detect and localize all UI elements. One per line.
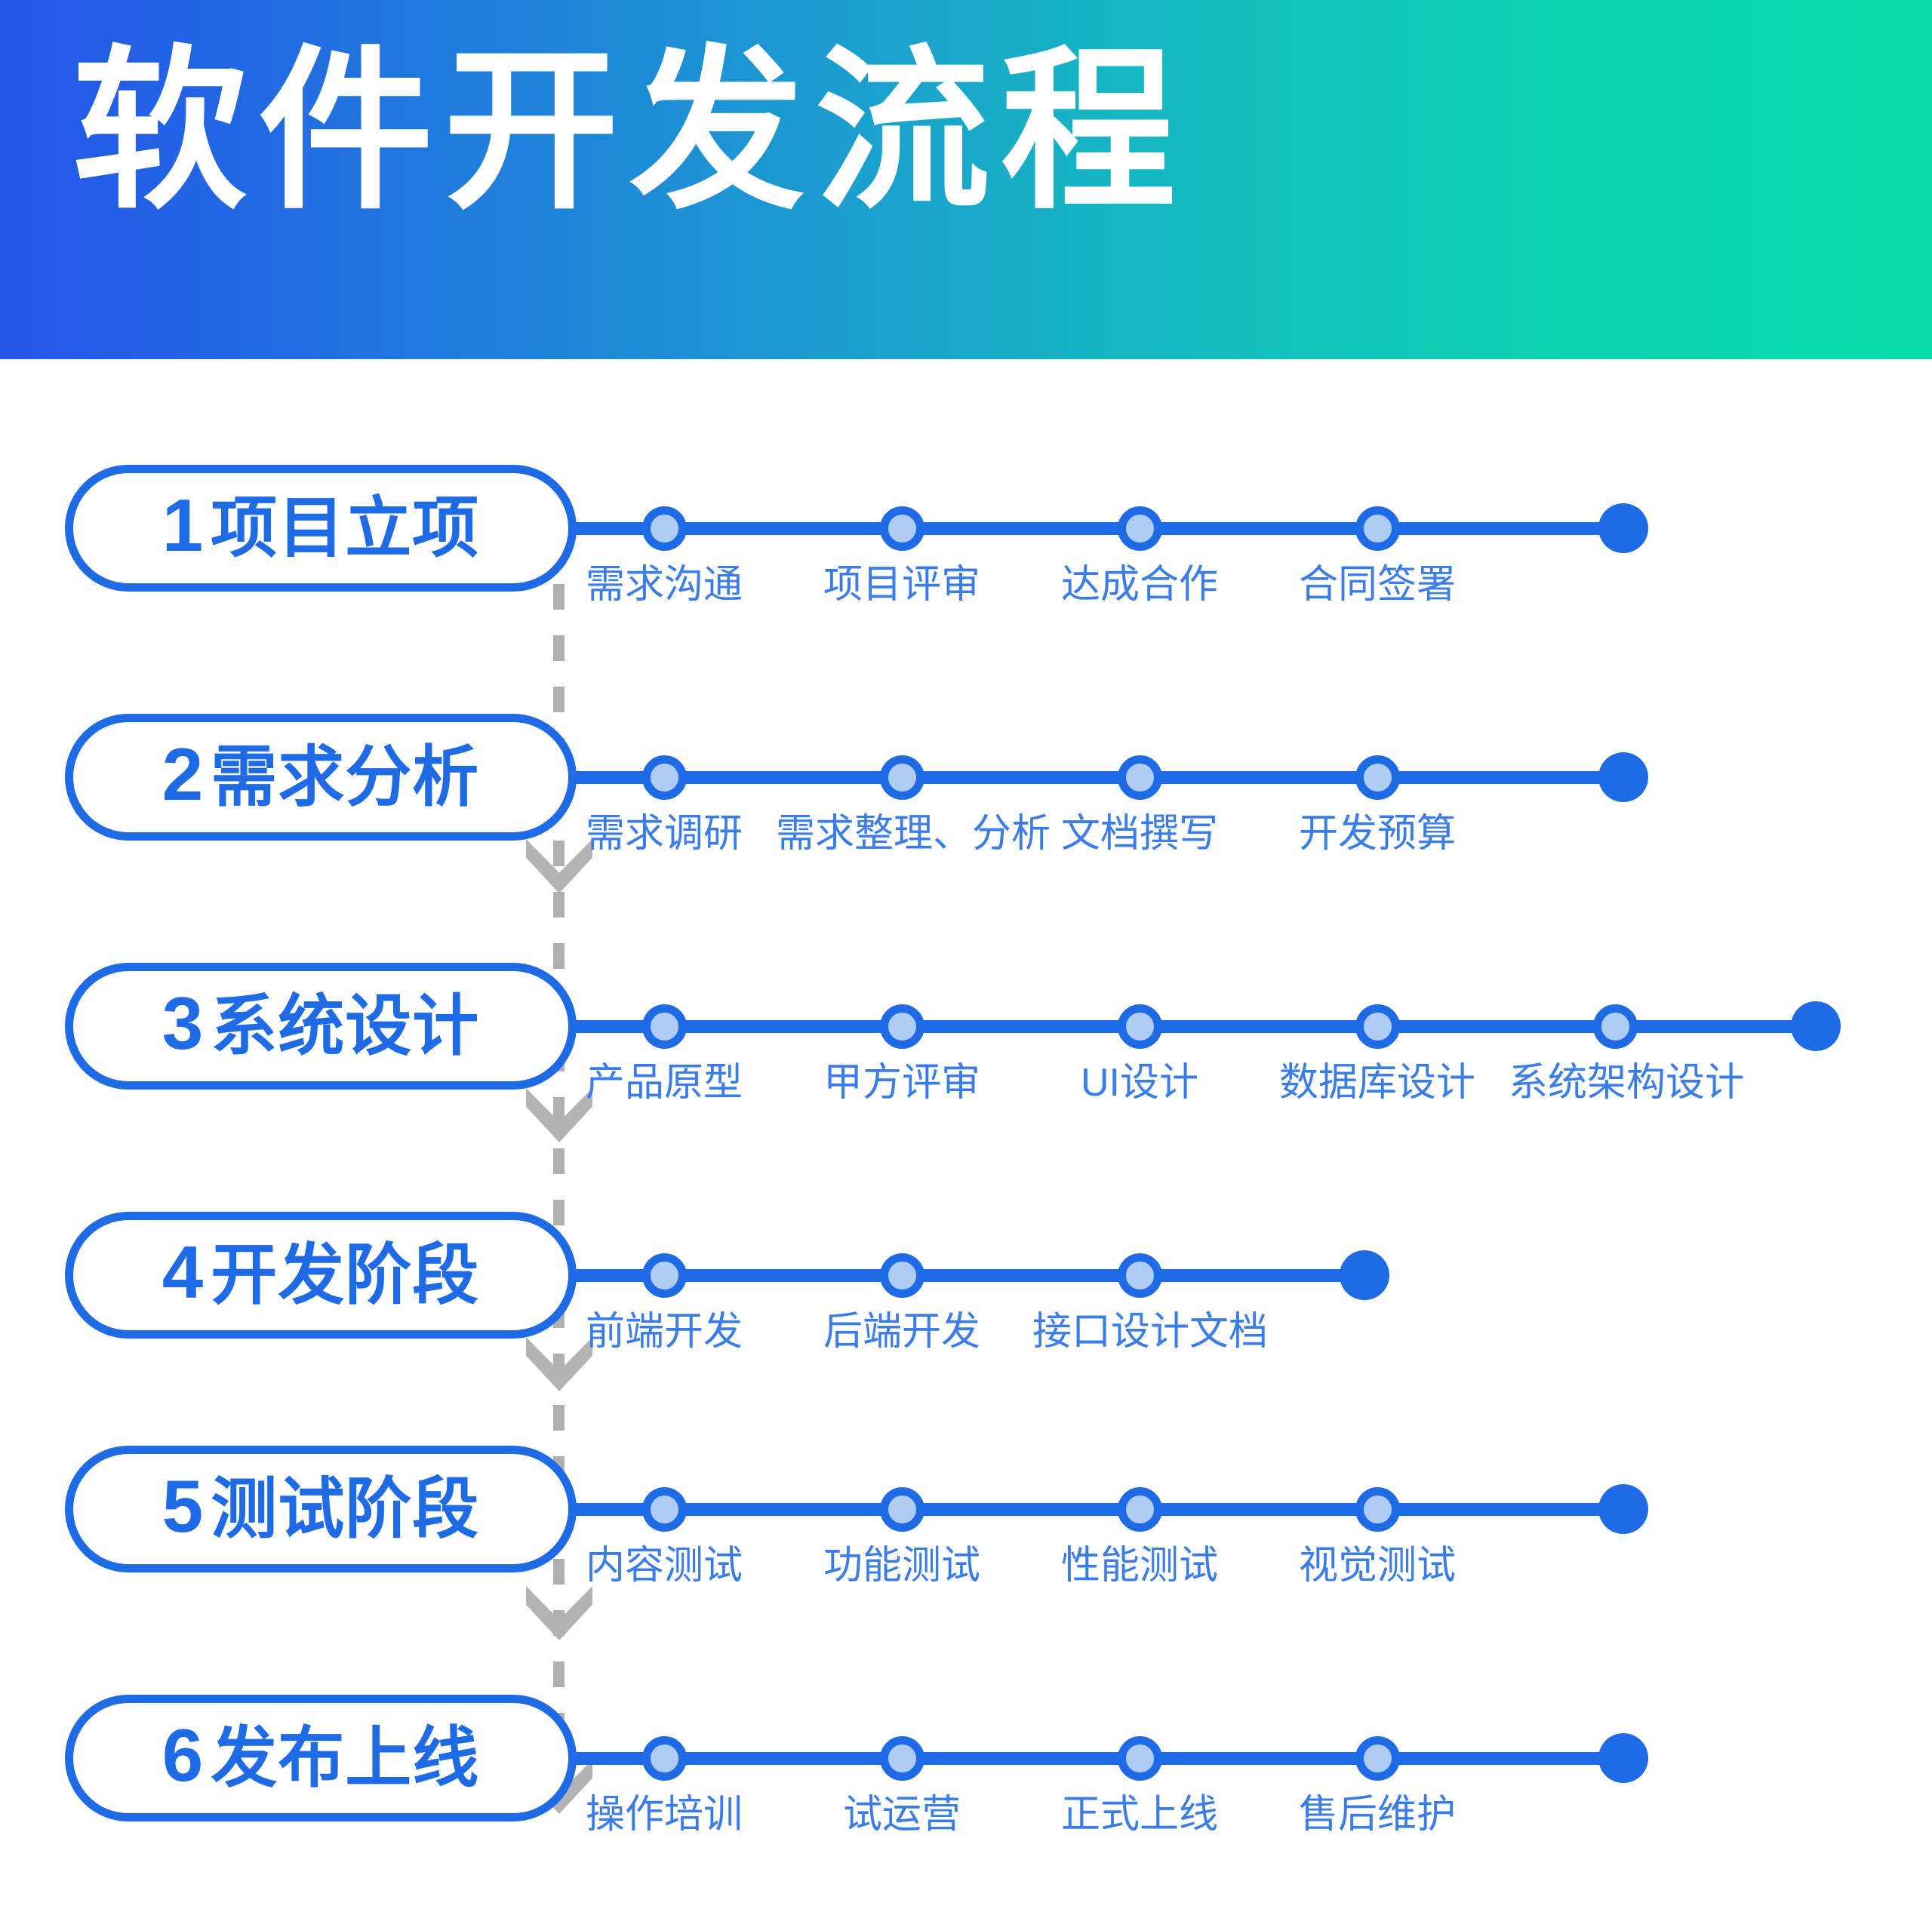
milestone-label: 前端开发 [586, 1310, 743, 1354]
step-number: 6 [162, 1718, 204, 1792]
step-pill-3[interactable]: 3 系统设计 [65, 963, 577, 1090]
milestone-label: 试运营 [843, 1793, 961, 1837]
milestone-label: 功能测试 [823, 1544, 980, 1588]
step-row: 3 系统设计 产品原型 甲方评审 UI设计 数据库设计 系统架构设计 [0, 963, 1932, 1114]
step-row: 5 测试阶段 内容测试 功能测试 性能测试 视觉测试 [0, 1446, 1932, 1597]
step-track [558, 522, 1630, 535]
step-pill-2[interactable]: 2 需求分析 [65, 714, 577, 841]
step-track [558, 1752, 1630, 1765]
milestone-node[interactable] [1118, 1253, 1162, 1298]
track-end-dot [1598, 1733, 1648, 1783]
step-name: 测试阶段 [211, 1476, 479, 1542]
step-name: 发布上线 [211, 1725, 479, 1791]
milestone-node[interactable] [1355, 1004, 1400, 1049]
milestone-node[interactable] [642, 1487, 687, 1532]
milestone-node[interactable] [642, 1736, 687, 1781]
milestone-node[interactable] [1118, 1487, 1162, 1532]
step-name: 系统设计 [211, 993, 479, 1059]
step-row: 4 开发阶段 前端开发 后端开发 接口设计文档 [0, 1212, 1932, 1363]
step-row: 2 需求分析 需求调研 需求整理、分析 文档撰写 开发预算 [0, 714, 1932, 865]
milestone-node[interactable] [642, 755, 687, 800]
milestone-label: 正式上线 [1061, 1793, 1218, 1837]
step-number: 3 [162, 986, 204, 1060]
step-name: 项目立项 [211, 495, 479, 561]
milestone-node[interactable] [642, 506, 687, 551]
milestone-node[interactable] [1118, 506, 1162, 551]
step-number: 2 [162, 737, 204, 811]
step-number: 5 [162, 1469, 204, 1543]
milestone-node[interactable] [1118, 1004, 1162, 1049]
milestone-node[interactable] [1355, 506, 1400, 551]
milestone-label: 甲方评审 [823, 1061, 980, 1105]
milestone-node[interactable] [880, 1736, 924, 1781]
step-number: 1 [162, 488, 204, 562]
track-end-dot [1598, 503, 1648, 553]
page-title: 软件开发流程 [72, 38, 1186, 226]
milestone-label: 产品原型 [586, 1061, 743, 1105]
milestone-label: 项目评审 [823, 563, 980, 607]
milestone-node[interactable] [1118, 755, 1162, 800]
milestone-label: 开发预算 [1299, 812, 1456, 856]
milestone-label: 需求整理、分析 [776, 812, 1051, 856]
milestone-label: 数据库设计 [1279, 1061, 1475, 1105]
track-end-dot [1340, 1250, 1389, 1300]
milestone-label: 接口设计文档 [1032, 1310, 1268, 1354]
step-track [558, 771, 1630, 784]
milestone-label: 内容测试 [586, 1544, 743, 1588]
step-pill-5[interactable]: 5 测试阶段 [65, 1446, 577, 1572]
step-number: 4 [162, 1235, 204, 1309]
milestone-node[interactable] [880, 1253, 924, 1298]
milestone-node[interactable] [880, 506, 924, 551]
milestone-node[interactable] [1355, 1487, 1400, 1532]
milestone-node[interactable] [1355, 755, 1400, 800]
milestone-label: 文档撰写 [1061, 812, 1218, 856]
milestone-label: 系统架构设计 [1509, 1061, 1744, 1105]
step-track [558, 1503, 1630, 1516]
milestone-node[interactable] [642, 1004, 687, 1049]
milestone-label: UI设计 [1081, 1061, 1198, 1105]
step-pill-6[interactable]: 6 发布上线 [65, 1695, 577, 1821]
step-name: 开发阶段 [211, 1242, 479, 1308]
milestone-node[interactable] [880, 755, 924, 800]
milestone-label: 视觉测试 [1299, 1544, 1456, 1588]
step-pill-1[interactable]: 1 项目立项 [65, 465, 577, 592]
milestone-label: 需求调研 [586, 812, 743, 856]
milestone-label: 达成合作 [1061, 563, 1218, 607]
header-banner: 软件开发流程 [0, 0, 1932, 359]
milestone-node[interactable] [642, 1253, 687, 1298]
milestone-node[interactable] [1118, 1736, 1162, 1781]
track-end-dot [1598, 1484, 1648, 1534]
track-end-dot [1598, 752, 1648, 802]
milestone-node[interactable] [880, 1487, 924, 1532]
milestone-label: 合同签署 [1299, 563, 1456, 607]
milestone-label: 性能测试 [1061, 1544, 1218, 1588]
track-end-dot [1791, 1001, 1841, 1051]
milestone-node[interactable] [880, 1004, 924, 1049]
step-name: 需求分析 [211, 744, 479, 810]
step-row: 6 发布上线 操作培训 试运营 正式上线 售后维护 [0, 1695, 1932, 1846]
milestone-label: 操作培训 [586, 1793, 743, 1837]
milestone-label: 需求沟通 [586, 563, 743, 607]
step-pill-4[interactable]: 4 开发阶段 [65, 1212, 577, 1339]
milestone-node[interactable] [1593, 1004, 1638, 1049]
step-row: 1 项目立项 需求沟通 项目评审 达成合作 合同签署 [0, 465, 1932, 616]
milestone-label: 售后维护 [1299, 1793, 1456, 1837]
milestone-node[interactable] [1355, 1736, 1400, 1781]
milestone-label: 后端开发 [823, 1310, 980, 1354]
process-flow: 1 项目立项 需求沟通 项目评审 达成合作 合同签署 2 需求分析 需求调研 需… [0, 359, 1932, 1909]
